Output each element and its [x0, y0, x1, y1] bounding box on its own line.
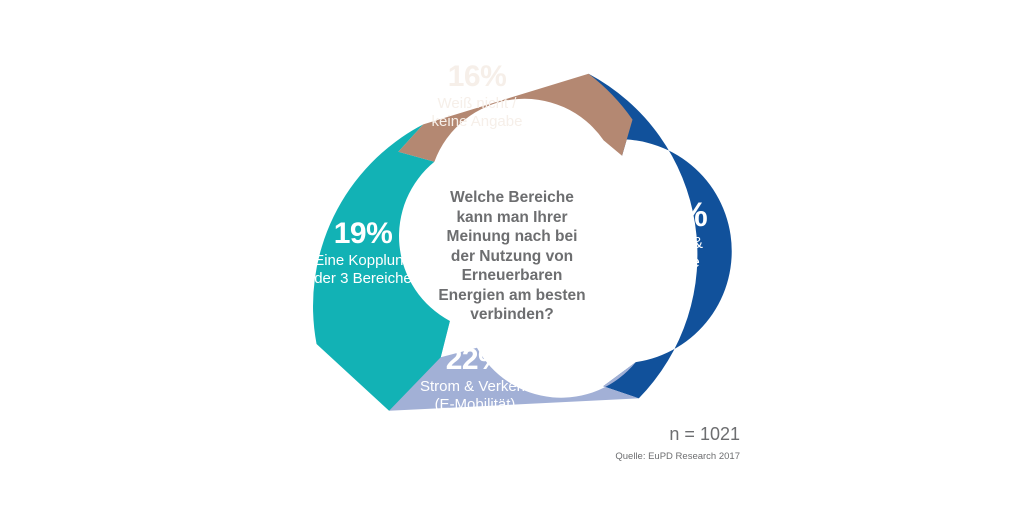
chart-footnote: n = 1021 Quelle: EuPD Research 2017: [560, 424, 740, 462]
sample-size: n = 1021: [560, 424, 740, 446]
infographic-canvas: 43% Strom & Wärme 22% Strom & Verkehr (E…: [0, 0, 1024, 512]
segment-weiss-nicht[interactable]: [398, 74, 632, 162]
source-citation: Quelle: EuPD Research 2017: [560, 451, 740, 462]
donut-segments: [313, 74, 732, 411]
segment-kopplung[interactable]: [313, 124, 450, 410]
donut-chart: [0, 0, 1024, 512]
